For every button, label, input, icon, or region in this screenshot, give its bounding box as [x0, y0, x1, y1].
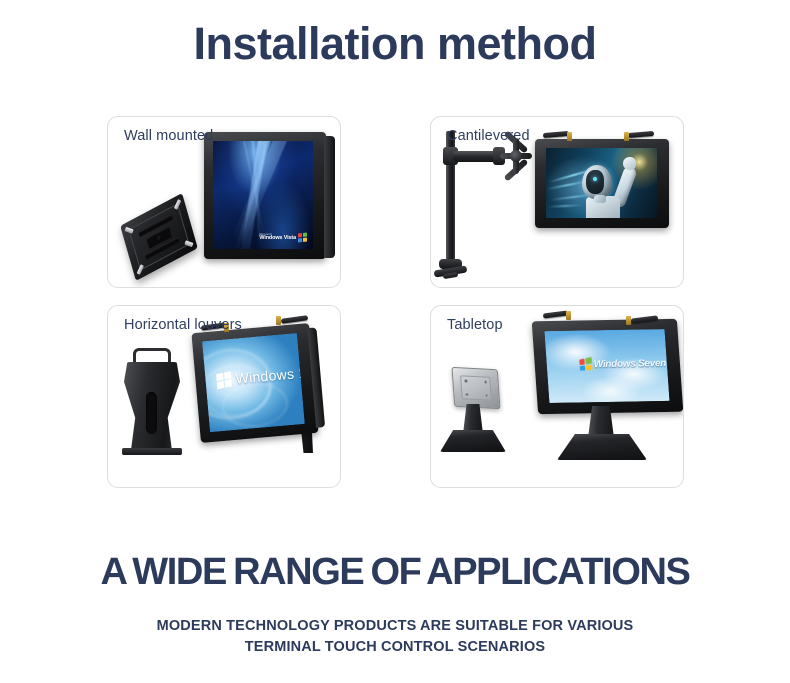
card-horizontal-louvers[interactable]: Horizontal louvers [107, 305, 341, 488]
vesa-head-hub [510, 150, 522, 162]
antenna-rod [543, 310, 568, 318]
antenna-rod [631, 315, 658, 323]
antenna-rod [628, 131, 654, 138]
card-art-tabletop: Windows Seven [431, 306, 683, 487]
monitor-screen: Microsoft Windows Vista [213, 141, 313, 249]
footer-headline: A WIDE RANGE OF APPLICATIONS [0, 551, 790, 594]
flag-square-blue [580, 365, 586, 371]
flag-square-2 [224, 371, 231, 379]
windows-seven-logo: Windows Seven [578, 357, 666, 370]
bracket-keyhole-slot [146, 392, 157, 434]
monitor-side-panel [307, 327, 325, 427]
kickstand-bracket-icon [120, 348, 188, 458]
vesa-mount-plate [451, 367, 500, 409]
robot-neck [594, 195, 606, 203]
monitor-screen [546, 148, 657, 218]
windows-flag-icon [579, 357, 592, 371]
monitor-side-panel [324, 136, 335, 258]
robot-eye [593, 177, 597, 181]
windows-flag-icon [298, 233, 307, 243]
antenna-right [622, 130, 656, 144]
card-wall-mounted[interactable]: Wall mounted [107, 116, 341, 288]
flag-square-green [585, 357, 592, 364]
flag-square-blue [298, 238, 302, 243]
windows-flag-icon [216, 371, 232, 389]
monitor-screen: Windows Seven [544, 329, 669, 403]
antenna-base [626, 316, 631, 325]
pedestal-neck [463, 404, 483, 434]
cantilevered-monitor [535, 139, 669, 228]
installation-method-page: Installation method Wall mounted [0, 0, 790, 683]
antenna-right [274, 314, 310, 328]
arm-desk-clamp-knob [443, 272, 459, 279]
tabletop-monitor: Windows Seven [532, 319, 683, 414]
vesa-plate-hole [484, 380, 487, 383]
vesa-plate-corner-highlight [137, 264, 144, 275]
monitor-stand-neck [588, 406, 614, 438]
antenna-rod [543, 131, 569, 138]
card-tabletop[interactable]: Tabletop [430, 305, 684, 488]
flag-square-1 [216, 372, 223, 380]
flag-square-yellow [586, 364, 593, 370]
flag-square-3 [217, 381, 224, 389]
card-art-horizontal-louvers: Windows 10 [108, 306, 340, 487]
robot-hand [623, 157, 636, 170]
monitor-screen: Windows 10 [202, 333, 305, 432]
vesa-plate-hole [485, 394, 488, 397]
windows-vista-logo-text: Microsoft Windows Vista [259, 234, 296, 242]
horizontal-louvers-monitor: Windows 10 [191, 323, 318, 443]
vesa-plate-hole [465, 393, 468, 396]
robot-face [586, 170, 604, 194]
vesa-wall-plate-icon [120, 193, 198, 281]
antenna-rod [281, 315, 308, 324]
antenna-right [624, 314, 660, 328]
monitor-stand-base [557, 434, 647, 460]
windows-seven-label: Windows Seven [593, 357, 666, 369]
card-label-tabletop: Tabletop [447, 317, 503, 333]
windows-vista-logo: Microsoft Windows Vista [259, 233, 307, 242]
bracket-foot [122, 448, 182, 455]
footer-subline-2: TERMINAL TOUCH CONTROL SCENARIOS [0, 639, 790, 655]
antenna-base [276, 316, 281, 325]
flag-square-4 [225, 379, 232, 387]
card-cantilevered[interactable]: Cantilevered [430, 116, 684, 288]
wallpaper-robot-ai [546, 148, 657, 218]
antenna-base [567, 132, 572, 141]
flag-square-red [298, 233, 302, 238]
card-label-wall-mounted: Wall mounted [124, 128, 213, 144]
flag-square-red [579, 359, 585, 365]
footer-subline-1: MODERN TECHNOLOGY PRODUCTS ARE SUITABLE … [0, 618, 790, 634]
antenna-left [543, 309, 577, 323]
wall-mounted-monitor: Microsoft Windows Vista [204, 132, 326, 259]
installation-method-card-grid: Wall mounted [107, 116, 684, 488]
flag-square-yellow [303, 237, 307, 242]
antenna-left [543, 130, 577, 144]
pedestal-base [440, 430, 506, 452]
card-label-horizontal-louvers: Horizontal louvers [124, 317, 242, 333]
windows-vista-label: Windows Vista [259, 236, 296, 241]
vesa-plate-hole [464, 379, 467, 382]
antenna-base [566, 311, 571, 320]
flag-square-green [303, 233, 307, 238]
vesa-plate-corner-highlight [174, 199, 181, 210]
page-title: Installation method [0, 18, 790, 70]
antenna-base [624, 132, 629, 141]
card-label-cantilevered: Cantilevered [447, 128, 530, 144]
